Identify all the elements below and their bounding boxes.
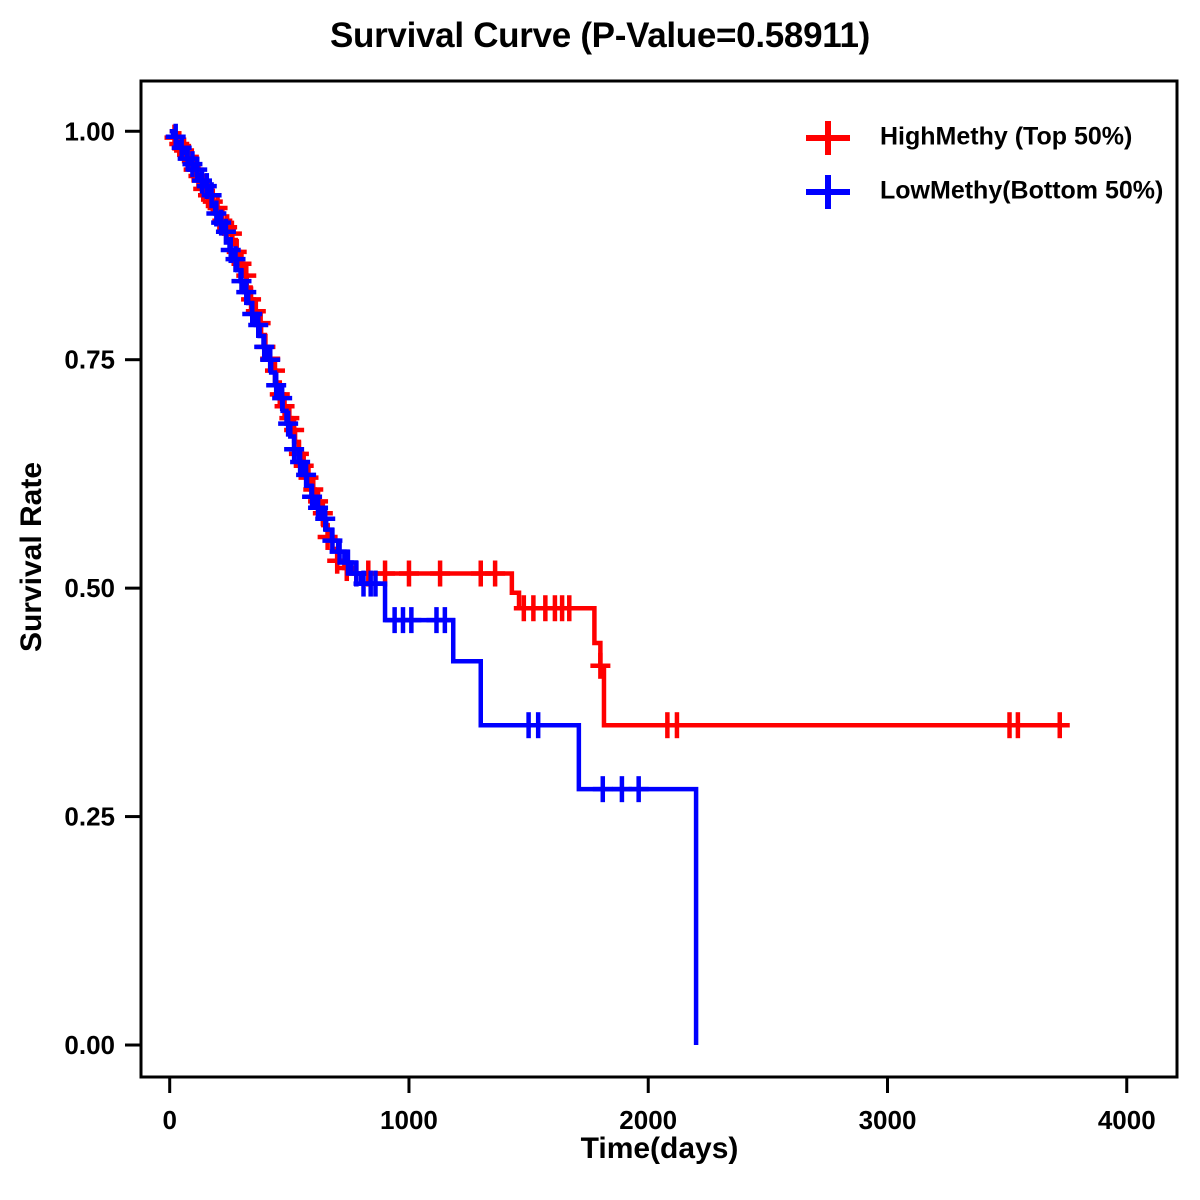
chart-legend: HighMethy (Top 50%)LowMethy(Bottom 50%) bbox=[806, 121, 1163, 209]
legend-label: HighMethy (Top 50%) bbox=[880, 123, 1132, 151]
y-tick-label: 0.00 bbox=[64, 1030, 115, 1060]
y-tick-label: 1.00 bbox=[64, 116, 115, 146]
step-line bbox=[170, 131, 1068, 725]
y-axis-ticks: 0.000.250.500.751.00 bbox=[64, 116, 141, 1060]
legend-item-high-methy[interactable]: HighMethy (Top 50%) bbox=[806, 121, 1132, 155]
x-tick-label: 4000 bbox=[1098, 1105, 1156, 1135]
x-tick-label: 3000 bbox=[859, 1105, 917, 1135]
survival-curve-high-methy bbox=[164, 125, 1069, 739]
y-tick-label: 0.25 bbox=[64, 802, 115, 832]
step-line bbox=[170, 131, 696, 1045]
plot-frame bbox=[141, 81, 1177, 1077]
legend-label: LowMethy(Bottom 50%) bbox=[880, 177, 1163, 205]
survival-curve-figure: Survival Curve (P-Value=0.58911) Surviva… bbox=[0, 0, 1200, 1200]
x-tick-label: 1000 bbox=[380, 1105, 438, 1135]
x-axis-ticks: 01000200030004000 bbox=[162, 1077, 1155, 1135]
plot-area: 0.000.250.500.751.00 01000200030004000 H… bbox=[0, 0, 1200, 1200]
y-tick-label: 0.75 bbox=[64, 345, 115, 375]
legend-item-low-methy[interactable]: LowMethy(Bottom 50%) bbox=[806, 175, 1163, 209]
x-tick-label: 2000 bbox=[619, 1105, 677, 1135]
y-tick-label: 0.50 bbox=[64, 573, 115, 603]
data-series-layer bbox=[164, 124, 1069, 1045]
x-tick-label: 0 bbox=[162, 1105, 176, 1135]
